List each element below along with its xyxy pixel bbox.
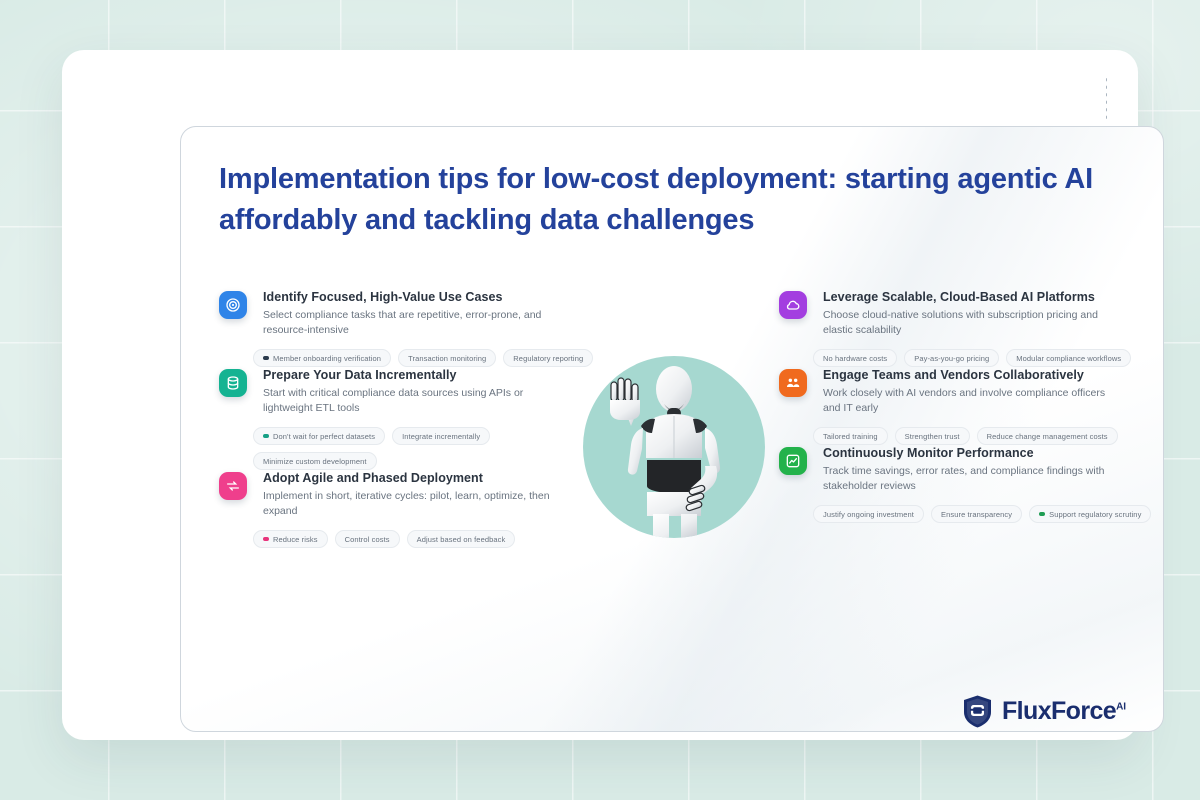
feature-title: Leverage Scalable, Cloud-Based AI Platfo…	[823, 289, 1161, 305]
chip[interactable]: Reduce change management costs	[977, 427, 1118, 445]
chip[interactable]: Member onboarding verification	[253, 349, 391, 367]
brand-superscript: AI	[1116, 701, 1126, 712]
brand-logo: FluxForceAI	[962, 694, 1126, 728]
feature-description: Select compliance tasks that are repetit…	[263, 308, 563, 337]
chip[interactable]: No hardware costs	[813, 349, 897, 367]
robot-illustration	[583, 356, 765, 538]
chip-label: No hardware costs	[823, 354, 887, 363]
chip-label: Integrate incrementally	[402, 432, 480, 441]
chip[interactable]: Reduce risks	[253, 530, 328, 548]
chip-dot-icon	[263, 356, 269, 360]
feature-chip-list: Reduce risks Control costs Adjust based …	[253, 530, 601, 548]
database-icon	[219, 369, 247, 397]
refresh-cycle-icon	[219, 472, 247, 500]
feature-chip-list: Tailored training Strengthen trust Reduc…	[813, 427, 1161, 445]
chip-label: Reduce risks	[273, 535, 318, 544]
feature-title: Prepare Your Data Incrementally	[263, 367, 601, 383]
slide-backdrop: Implementation tips for low-cost deploym…	[0, 0, 1200, 800]
page-title: Implementation tips for low-cost deploym…	[219, 159, 1109, 241]
feature-item-monitor-performance[interactable]: Continuously Monitor Performance Track t…	[779, 445, 1161, 523]
feature-description: Start with critical compliance data sour…	[263, 386, 563, 415]
feature-chip-list: No hardware costs Pay-as-you-go pricing …	[813, 349, 1161, 367]
chip[interactable]: Transaction monitoring	[398, 349, 496, 367]
chip-label: Transaction monitoring	[408, 354, 486, 363]
chip[interactable]: Strengthen trust	[895, 427, 970, 445]
chip[interactable]: Pay-as-you-go pricing	[904, 349, 999, 367]
feature-item-identify-use-cases[interactable]: Identify Focused, High-Value Use Cases S…	[219, 289, 601, 367]
chip[interactable]: Integrate incrementally	[392, 427, 490, 445]
chip-label: Modular compliance workflows	[1016, 354, 1121, 363]
feature-item-engage-teams[interactable]: Engage Teams and Vendors Collaboratively…	[779, 367, 1161, 445]
chip-label: Pay-as-you-go pricing	[914, 354, 989, 363]
chip-label: Reduce change management costs	[987, 432, 1108, 441]
chip-label: Tailored training	[823, 432, 878, 441]
brand-name: FluxForceAI	[1002, 697, 1126, 726]
chip[interactable]: Regulatory reporting	[503, 349, 593, 367]
feature-item-agile-deployment[interactable]: Adopt Agile and Phased Deployment Implem…	[219, 470, 601, 548]
chip-dot-icon	[1039, 512, 1045, 516]
feature-title: Identify Focused, High-Value Use Cases	[263, 289, 601, 305]
chip[interactable]: Adjust based on feedback	[407, 530, 516, 548]
feature-title: Engage Teams and Vendors Collaboratively	[823, 367, 1161, 383]
chip-dot-icon	[263, 537, 269, 541]
chip-label: Regulatory reporting	[513, 354, 583, 363]
chip[interactable]: Justify ongoing investment	[813, 505, 924, 523]
chip-label: Adjust based on feedback	[417, 535, 506, 544]
feature-title: Adopt Agile and Phased Deployment	[263, 470, 601, 486]
waving-robot-icon	[583, 356, 765, 538]
brand-name-text: FluxForce	[1002, 697, 1116, 725]
feature-chip-list: Don't wait for perfect datasets Integrat…	[253, 427, 601, 470]
chip-label: Member onboarding verification	[273, 354, 381, 363]
chip[interactable]: Tailored training	[813, 427, 888, 445]
chip[interactable]: Ensure transparency	[931, 505, 1022, 523]
chip[interactable]: Control costs	[335, 530, 400, 548]
chip-label: Justify ongoing investment	[823, 510, 914, 519]
feature-title: Continuously Monitor Performance	[823, 445, 1161, 461]
feature-item-prepare-data[interactable]: Prepare Your Data Incrementally Start wi…	[219, 367, 601, 470]
chip[interactable]: Minimize custom development	[253, 452, 377, 470]
team-people-icon	[779, 369, 807, 397]
feature-chip-list: Justify ongoing investment Ensure transp…	[813, 505, 1161, 523]
chip-label: Minimize custom development	[263, 457, 367, 466]
cloud-icon	[779, 291, 807, 319]
slide-card: Implementation tips for low-cost deploym…	[180, 126, 1164, 732]
feature-description: Implement in short, iterative cycles: pi…	[263, 489, 563, 518]
chip[interactable]: Modular compliance workflows	[1006, 349, 1131, 367]
chip-dot-icon	[263, 434, 269, 438]
chart-line-icon	[779, 447, 807, 475]
chip-label: Support regulatory scrutiny	[1049, 510, 1141, 519]
chip[interactable]: Don't wait for perfect datasets	[253, 427, 385, 445]
dotted-line-decoration	[1105, 76, 1107, 122]
outer-white-panel: Implementation tips for low-cost deploym…	[62, 50, 1138, 740]
feature-description: Track time savings, error rates, and com…	[823, 464, 1123, 493]
feature-description: Work closely with AI vendors and involve…	[823, 386, 1123, 415]
feature-column-left: Identify Focused, High-Value Use Cases S…	[219, 289, 601, 548]
chip[interactable]: Support regulatory scrutiny	[1029, 505, 1151, 523]
feature-chip-list: Member onboarding verification Transacti…	[253, 349, 601, 367]
shield-icon	[962, 694, 993, 728]
chip-label: Ensure transparency	[941, 510, 1012, 519]
feature-column-right: Leverage Scalable, Cloud-Based AI Platfo…	[779, 289, 1161, 523]
feature-description: Choose cloud-native solutions with subsc…	[823, 308, 1123, 337]
target-icon	[219, 291, 247, 319]
chip-label: Don't wait for perfect datasets	[273, 432, 375, 441]
chip-label: Strengthen trust	[905, 432, 960, 441]
feature-item-cloud-platforms[interactable]: Leverage Scalable, Cloud-Based AI Platfo…	[779, 289, 1161, 367]
chip-label: Control costs	[345, 535, 390, 544]
